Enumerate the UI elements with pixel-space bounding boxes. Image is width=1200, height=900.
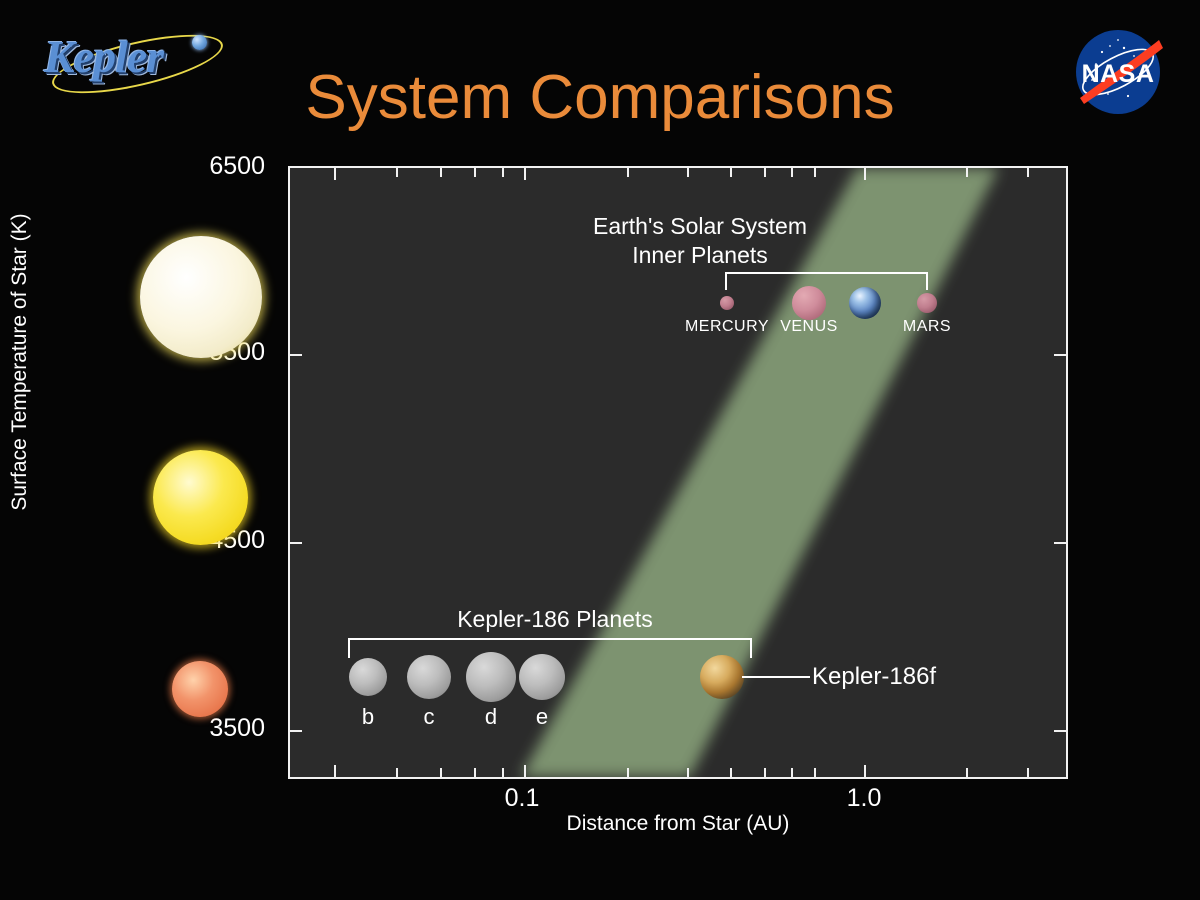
x-axis-label: Distance from Star (AU) xyxy=(288,812,1068,836)
x-tick-bottom xyxy=(627,768,629,777)
x-tick-label-0-1: 0.1 xyxy=(477,784,567,813)
kepler-186f-label: Kepler-186f xyxy=(812,663,936,691)
x-tick-top xyxy=(764,168,766,177)
y-tick-label-3500: 3500 xyxy=(155,714,265,743)
planet-kepler-186e[interactable] xyxy=(519,654,565,700)
x-tick-top xyxy=(396,168,398,177)
x-tick-bottom xyxy=(440,768,442,777)
planet-mars[interactable] xyxy=(917,293,937,313)
x-tick-top xyxy=(627,168,629,177)
x-tick-bottom xyxy=(474,768,476,777)
y-tick-left-5500 xyxy=(290,354,302,356)
x-tick-top xyxy=(440,168,442,177)
planet-kepler-186c[interactable] xyxy=(407,655,451,699)
planet-label-mars: MARS xyxy=(872,318,982,336)
x-tick-bottom xyxy=(502,768,504,777)
planet-kepler-186f[interactable] xyxy=(700,655,744,699)
x-tick-label-1-0: 1.0 xyxy=(819,784,909,813)
kepler-186f-leader-line xyxy=(742,676,810,678)
y-tick-left-4500 xyxy=(290,542,302,544)
slide-canvas: Kepler NASA System Comparisons Surface T… xyxy=(0,0,1200,900)
x-tick-top xyxy=(687,168,689,177)
y-tick-label-6500: 6500 xyxy=(155,152,265,181)
x-tick-bottom xyxy=(687,768,689,777)
x-tick-bottom xyxy=(730,768,732,777)
planet-kepler-186d[interactable] xyxy=(466,652,516,702)
planet-label-e: e xyxy=(487,704,597,730)
x-tick-top xyxy=(791,168,793,177)
solar-system-group-title-line2: Inner Planets xyxy=(535,242,865,269)
x-tick-top-major xyxy=(524,168,526,180)
planet-mercury[interactable] xyxy=(720,296,734,310)
x-tick-bottom xyxy=(814,768,816,777)
x-tick-top xyxy=(474,168,476,177)
x-tick-bottom xyxy=(396,768,398,777)
plot-area: Earth's Solar System Inner Planets MERCU… xyxy=(288,166,1068,779)
y-tick-left-3500 xyxy=(290,730,302,732)
planet-earth[interactable] xyxy=(849,287,881,319)
x-tick-top xyxy=(334,168,336,180)
m-type-star-icon xyxy=(172,661,228,717)
y-tick-right-5500 xyxy=(1054,354,1066,356)
planet-kepler-186b[interactable] xyxy=(349,658,387,696)
x-tick-top xyxy=(814,168,816,177)
g-type-star-icon xyxy=(140,236,262,358)
x-tick-bottom xyxy=(334,765,336,777)
x-tick-top xyxy=(730,168,732,177)
x-tick-top-major xyxy=(864,168,866,180)
y-axis-label: Surface Temperature of Star (K) xyxy=(8,162,32,562)
kepler-planet-icon xyxy=(192,35,207,50)
k-type-star-icon xyxy=(153,450,248,545)
planet-venus[interactable] xyxy=(792,286,826,320)
planet-label-venus: VENUS xyxy=(754,318,864,336)
x-tick-top xyxy=(1027,168,1029,177)
x-tick-bottom xyxy=(764,768,766,777)
kepler186-group-title: Kepler-186 Planets xyxy=(380,606,730,633)
solar-system-group-title-line1: Earth's Solar System xyxy=(535,213,865,240)
x-tick-top xyxy=(502,168,504,177)
x-tick-bottom xyxy=(966,768,968,777)
x-tick-bottom xyxy=(1027,768,1029,777)
x-tick-top xyxy=(966,168,968,177)
solar-system-bracket xyxy=(725,272,928,290)
page-title: System Comparisons xyxy=(0,62,1200,133)
y-tick-right-3500 xyxy=(1054,730,1066,732)
x-tick-bottom-major xyxy=(524,765,526,777)
y-tick-right-4500 xyxy=(1054,542,1066,544)
x-tick-bottom xyxy=(791,768,793,777)
x-tick-bottom-major xyxy=(864,765,866,777)
